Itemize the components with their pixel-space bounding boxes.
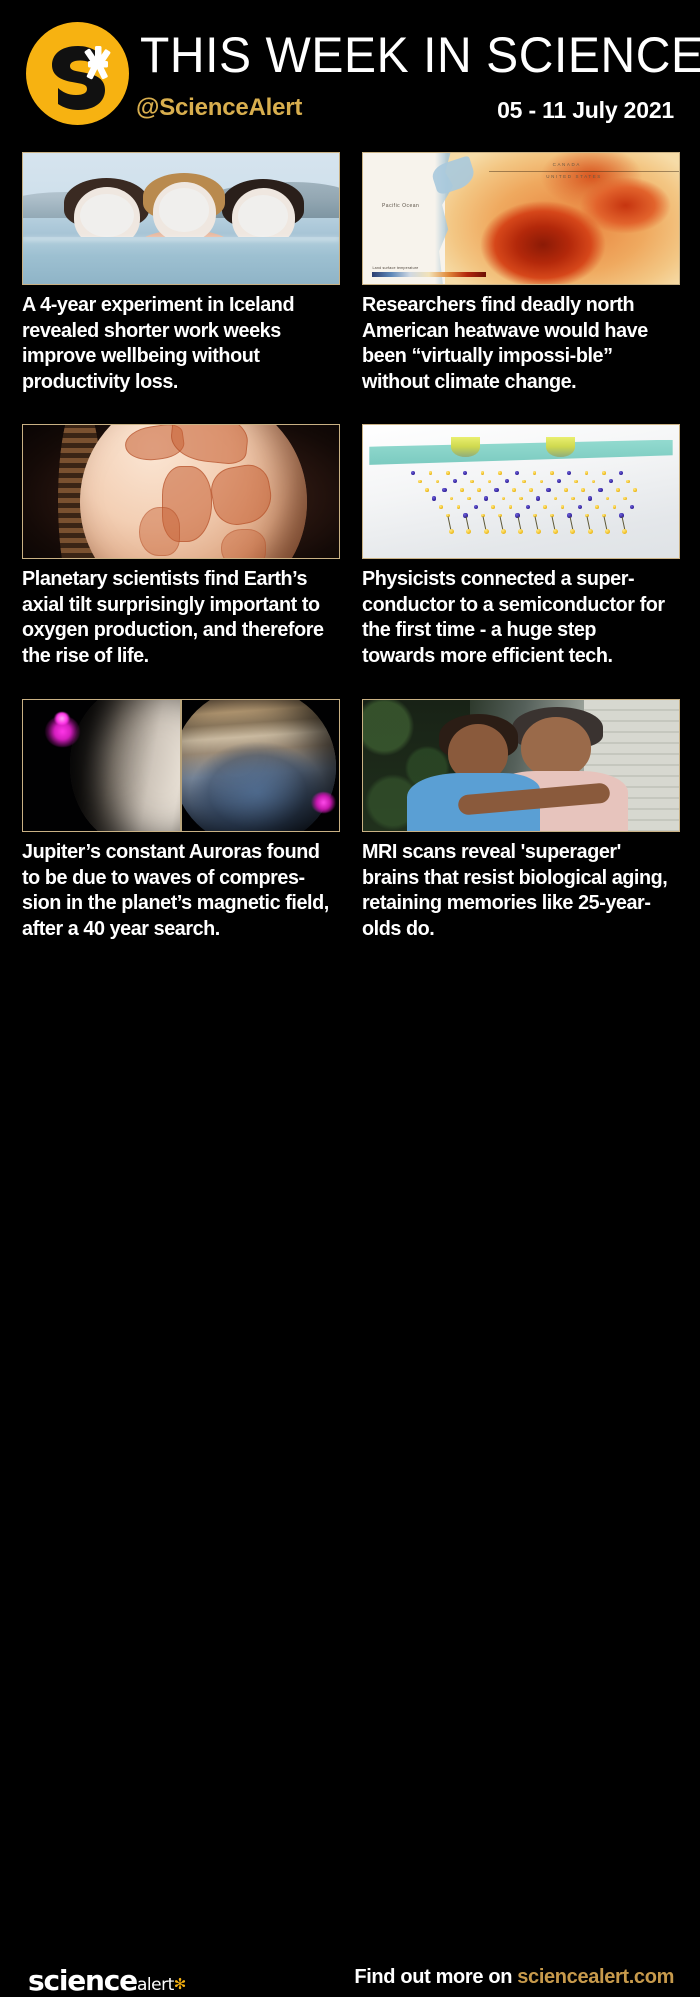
story-thumbnail-heatwave-map[interactable]: Pacific Ocean CANADA UNITED STATES Land … [362, 152, 680, 285]
story-card[interactable]: Physicists connected a super-conductor t… [362, 424, 680, 668]
lattice-atom-yellow [574, 480, 578, 484]
lattice-atom-yellow [553, 529, 558, 534]
lattice-atom-yellow [467, 497, 471, 501]
jupiter-disc [70, 700, 180, 831]
continent-shape [169, 424, 251, 466]
page-header: THIS WEEK IN SCIENCE @ScienceAlert 05 - … [0, 0, 700, 148]
lattice-atom-blue [630, 505, 634, 509]
footer-call-to-action: Find out more on sciencealert.com [354, 1966, 674, 1989]
lattice-atom-blue [442, 488, 446, 492]
lattice-atom-blue [411, 471, 415, 475]
portrait-illustration [363, 700, 679, 831]
story-card[interactable]: Pacific Ocean CANADA UNITED STATES Land … [362, 152, 680, 394]
lattice-atom-blue [505, 479, 509, 483]
lattice-atom-yellow [522, 480, 526, 484]
story-caption: MRI scans reveal 'superager' brains that… [362, 839, 673, 941]
map-label-pacific-ocean: Pacific Ocean [382, 203, 419, 209]
story-caption: Researchers find deadly north American h… [362, 292, 673, 394]
story-caption: Physicists connected a super-conductor t… [362, 566, 673, 668]
story-caption: Planetary scientists find Earth’s axial … [22, 566, 333, 668]
lattice-atom-yellow [581, 488, 585, 492]
lattice-illustration [363, 425, 679, 558]
lattice-atom-yellow [536, 529, 541, 534]
aurora-core [54, 712, 70, 725]
story-card[interactable]: Planetary scientists find Earth’s axial … [22, 424, 340, 668]
story-grid: A 4-year experiment in Iceland revealed … [0, 152, 700, 962]
jupiter-disc [182, 700, 336, 831]
face-mask [159, 188, 210, 231]
country-border-line [489, 171, 679, 172]
map-label-united-states: UNITED STATES [546, 174, 602, 179]
map-label-canada: CANADA [553, 162, 581, 167]
heatmap-illustration: Pacific Ocean CANADA UNITED STATES Land … [363, 153, 679, 284]
lattice-atom-yellow [436, 480, 440, 484]
story-caption: A 4-year experiment in Iceland revealed … [22, 292, 333, 394]
lattice-atom-yellow [588, 529, 593, 534]
story-caption: Jupiter’s constant Auroras found to be d… [22, 839, 333, 941]
contact-dome [546, 437, 574, 457]
atomic-lattice [407, 469, 641, 551]
story-thumbnail-jupiter-auroras[interactable] [22, 699, 340, 832]
lattice-atom-yellow [533, 471, 537, 475]
face-mask [80, 194, 134, 237]
lattice-atom-yellow [502, 497, 506, 501]
story-card[interactable]: MRI scans reveal 'superager' brains that… [362, 699, 680, 941]
lattice-atom-blue [432, 496, 436, 500]
lattice-atom-blue [484, 496, 488, 500]
story-card[interactable]: A 4-year experiment in Iceland revealed … [22, 152, 340, 394]
lagoon-water [23, 237, 339, 284]
lattice-atom-yellow [439, 505, 443, 509]
face-mask [238, 195, 289, 237]
lattice-atom-blue [588, 496, 592, 500]
lattice-atom-yellow [626, 480, 630, 484]
lattice-atom-yellow [605, 529, 610, 534]
lattice-atom-blue [526, 505, 530, 509]
lattice-atom-yellow [488, 480, 492, 484]
cta-prefix-text: Find out more on [354, 1966, 512, 1988]
lattice-atom-yellow [592, 480, 596, 484]
continent-shape [221, 529, 267, 559]
continent-shape [139, 507, 180, 556]
story-thumbnail-superager-portrait[interactable] [362, 699, 680, 832]
sciencealert-wordmark[interactable]: science alert ✻ [28, 1964, 186, 1997]
lattice-atom-yellow [498, 471, 502, 475]
lattice-atom-yellow [449, 529, 454, 534]
globe-sphere [80, 424, 308, 559]
lattice-atom-blue [494, 488, 498, 492]
lattice-atom-blue [567, 471, 571, 475]
lattice-atom-yellow [509, 505, 513, 509]
legend-colorbar [372, 272, 486, 277]
jupiter-image-left [23, 700, 180, 831]
lattice-atom-yellow [491, 505, 495, 509]
aurora-glow [311, 792, 336, 813]
lattice-atom-blue [557, 479, 561, 483]
lattice-atom-yellow [446, 471, 450, 475]
sciencealert-logo-icon[interactable] [26, 22, 129, 125]
page-footer: science alert ✻ Find out more on science… [0, 962, 700, 1050]
lattice-atom-yellow [595, 505, 599, 509]
lattice-atom-blue [546, 488, 550, 492]
older-woman-face [521, 717, 591, 777]
superconductor-slab [369, 440, 672, 465]
lattice-atom-blue [619, 471, 623, 475]
lattice-atom-yellow [571, 497, 575, 501]
story-card[interactable]: Jupiter’s constant Auroras found to be d… [22, 699, 340, 941]
lattice-atom-yellow [484, 529, 489, 534]
lattice-atom-yellow [623, 497, 627, 501]
lagoon-illustration [23, 153, 339, 284]
lattice-atom-yellow [512, 488, 516, 492]
lattice-atom-yellow [457, 505, 461, 509]
lattice-atom-yellow [616, 488, 620, 492]
lattice-atom-yellow [543, 505, 547, 509]
lattice-atom-yellow [613, 505, 617, 509]
lattice-atom-yellow [564, 488, 568, 492]
lattice-atom-blue [463, 471, 467, 475]
lattice-atom-yellow [550, 471, 554, 475]
lattice-atom-blue [515, 471, 519, 475]
jupiter-pair-illustration [23, 700, 339, 831]
social-handle: @ScienceAlert [136, 93, 302, 123]
globe-illustration [23, 425, 339, 558]
lattice-atom-yellow [540, 480, 544, 484]
lattice-atom-yellow [622, 529, 627, 534]
lattice-atom-blue [453, 479, 457, 483]
wordmark-alert: alert [137, 1975, 174, 1995]
map-legend: Land surface temperature [372, 266, 486, 277]
lattice-atom-yellow [570, 529, 575, 534]
jupiter-image-right [182, 700, 339, 831]
lattice-atom-blue [536, 496, 540, 500]
cta-website-link[interactable]: sciencealert.com [517, 1966, 674, 1988]
lattice-atom-yellow [606, 497, 610, 501]
lattice-atom-blue [609, 479, 613, 483]
lattice-atom-yellow [460, 488, 464, 492]
asterisk-icon: ✻ [174, 1975, 187, 1993]
lattice-atom-yellow [470, 480, 474, 484]
lattice-atom-yellow [633, 488, 637, 492]
lattice-atom-yellow [529, 488, 533, 492]
continent-shape [207, 462, 275, 529]
lattice-atom-yellow [425, 488, 429, 492]
lattice-atom-blue [578, 505, 582, 509]
story-thumbnail-iceland-lagoon[interactable] [22, 152, 340, 285]
lattice-atom-yellow [429, 471, 433, 475]
date-range: 05 - 11 July 2021 [497, 95, 674, 125]
lattice-atom-yellow [418, 480, 422, 484]
legend-title: Land surface temperature [372, 266, 486, 271]
lattice-atom-blue [598, 488, 602, 492]
lattice-atom-yellow [561, 505, 565, 509]
story-thumbnail-earth-globe[interactable] [22, 424, 340, 559]
page-title: THIS WEEK IN SCIENCE [140, 26, 700, 84]
story-thumbnail-lattice[interactable] [362, 424, 680, 559]
lattice-atom-yellow [466, 529, 471, 534]
lattice-atom-yellow [519, 497, 523, 501]
lattice-atom-blue [474, 505, 478, 509]
lattice-atom-yellow [554, 497, 558, 501]
lattice-atom-yellow [501, 529, 506, 534]
lattice-atom-yellow [450, 497, 454, 501]
lattice-atom-yellow [585, 471, 589, 475]
lattice-atom-yellow [602, 471, 606, 475]
lattice-atom-yellow [481, 471, 485, 475]
logo-s-star-glyph [26, 22, 129, 125]
contact-dome [451, 437, 479, 457]
lattice-atom-yellow [477, 488, 481, 492]
lattice-atom-yellow [518, 529, 523, 534]
wordmark-science: science [28, 1964, 137, 1997]
